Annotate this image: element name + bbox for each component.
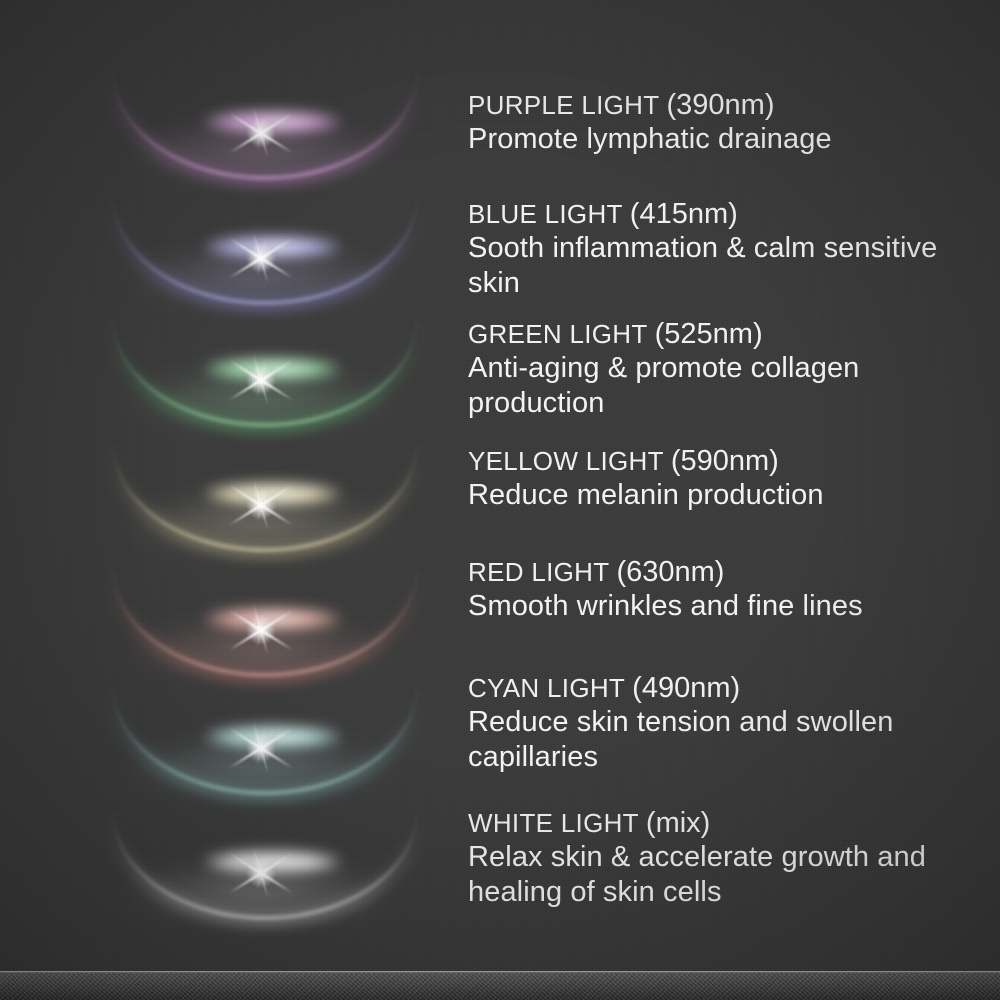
light-description-cyan: Reduce skin tension and swollen capillar… <box>468 705 968 775</box>
light-entry-green: GREEN LIGHT (525nm)Anti-aging & promote … <box>468 317 968 421</box>
light-title-text-blue: BLUE LIGHT <box>468 199 622 229</box>
light-wavelength-cyan: (490nm) <box>632 672 740 704</box>
light-title-text-green: GREEN LIGHT <box>468 319 647 349</box>
ledge-shading <box>0 973 1000 1000</box>
bottom-ledge <box>0 973 1000 1000</box>
light-title-yellow: YELLOW LIGHT (590nm) <box>468 444 968 478</box>
light-title-blue: BLUE LIGHT (415nm) <box>468 197 968 231</box>
light-wavelength-white: (mix) <box>646 807 710 839</box>
light-wavelength-red: (630nm) <box>616 556 724 588</box>
light-title-text-purple: PURPLE LIGHT <box>468 90 659 120</box>
light-title-green: GREEN LIGHT (525nm) <box>468 317 968 351</box>
light-description-white: Relax skin & accelerate growth and heali… <box>468 840 968 910</box>
light-wavelength-blue: (415nm) <box>630 198 738 230</box>
light-title-text-white: WHITE LIGHT <box>468 808 638 838</box>
light-title-text-yellow: YELLOW LIGHT <box>468 446 663 476</box>
light-title-purple: PURPLE LIGHT (390nm) <box>468 88 968 122</box>
light-wavelength-yellow: (590nm) <box>671 445 779 477</box>
light-description-yellow: Reduce melanin production <box>468 478 968 513</box>
light-title-text-red: RED LIGHT <box>468 557 609 587</box>
light-entry-cyan: CYAN LIGHT (490nm)Reduce skin tension an… <box>468 671 968 775</box>
light-description-column: PURPLE LIGHT (390nm)Promote lymphatic dr… <box>0 0 1000 1000</box>
light-description-red: Smooth wrinkles and fine lines <box>468 589 968 624</box>
led-light-therapy-poster: PURPLE LIGHT (390nm)Promote lymphatic dr… <box>0 0 1000 1000</box>
light-description-purple: Promote lymphatic drainage <box>468 122 968 157</box>
light-title-text-cyan: CYAN LIGHT <box>468 673 625 703</box>
light-title-white: WHITE LIGHT (mix) <box>468 806 968 840</box>
light-title-cyan: CYAN LIGHT (490nm) <box>468 671 968 705</box>
light-title-red: RED LIGHT (630nm) <box>468 555 968 589</box>
light-description-blue: Sooth inflammation & calm sensitive skin <box>468 231 968 301</box>
light-entry-red: RED LIGHT (630nm)Smooth wrinkles and fin… <box>468 555 968 624</box>
light-entry-white: WHITE LIGHT (mix)Relax skin & accelerate… <box>468 806 968 910</box>
light-entry-yellow: YELLOW LIGHT (590nm)Reduce melanin produ… <box>468 444 968 513</box>
light-entry-blue: BLUE LIGHT (415nm)Sooth inflammation & c… <box>468 197 968 301</box>
light-wavelength-purple: (390nm) <box>667 89 775 121</box>
light-entry-purple: PURPLE LIGHT (390nm)Promote lymphatic dr… <box>468 88 968 157</box>
light-description-green: Anti-aging & promote collagen production <box>468 351 968 421</box>
light-wavelength-green: (525nm) <box>655 318 763 350</box>
